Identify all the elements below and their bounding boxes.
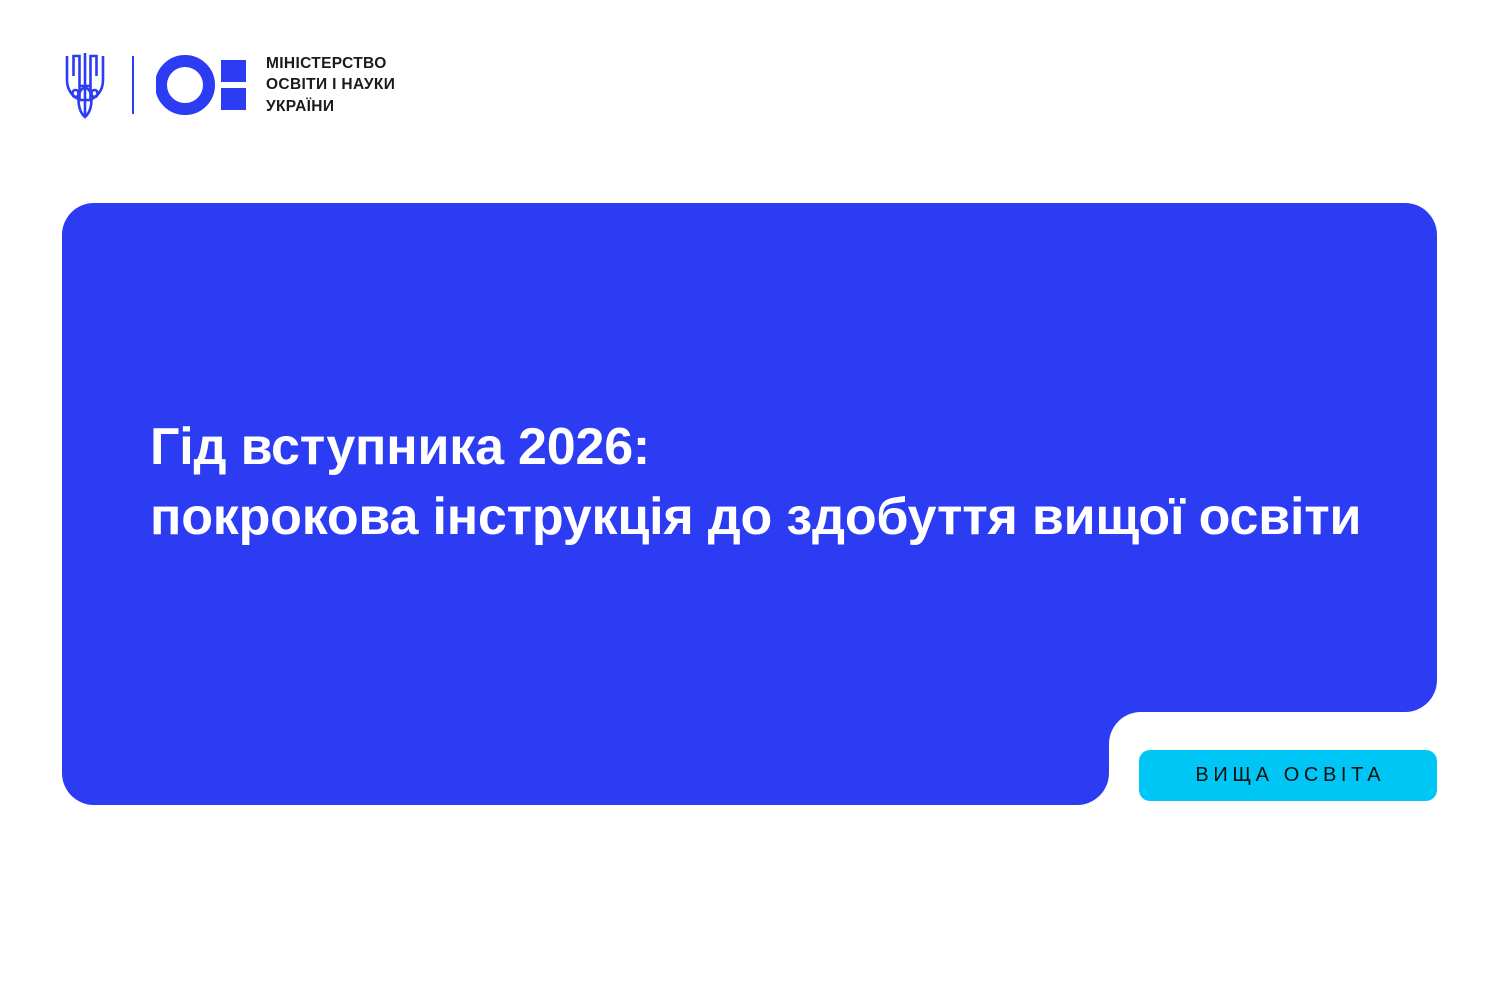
hero-card: Гід вступника 2026: покрокова інструкція… (62, 203, 1437, 805)
hero-title: Гід вступника 2026: покрокова інструкція… (150, 413, 1390, 552)
ministry-name: МІНІСТЕРСТВО ОСВІТИ І НАУКИ УКРАЇНИ (266, 54, 395, 115)
category-badge-label: ВИЩА ОСВІТА (1191, 764, 1385, 787)
brand-divider (132, 56, 134, 114)
ministry-line-1: МІНІСТЕРСТВО (266, 54, 395, 73)
ukraine-trident-icon (62, 50, 108, 120)
category-badge[interactable]: ВИЩА ОСВІТА (1139, 750, 1437, 801)
ministry-line-3: УКРАЇНИ (266, 97, 395, 116)
hero-title-line-2: покрокова інструкція до здобуття вищої о… (150, 483, 1390, 553)
hero-title-line-1: Гід вступника 2026: (150, 413, 1390, 483)
brand-lockup: МІНІСТЕРСТВО ОСВІТИ І НАУКИ УКРАЇНИ (62, 48, 395, 122)
ministry-line-2: ОСВІТИ І НАУКИ (266, 75, 395, 94)
mon-o-square-logo-icon (156, 54, 248, 116)
